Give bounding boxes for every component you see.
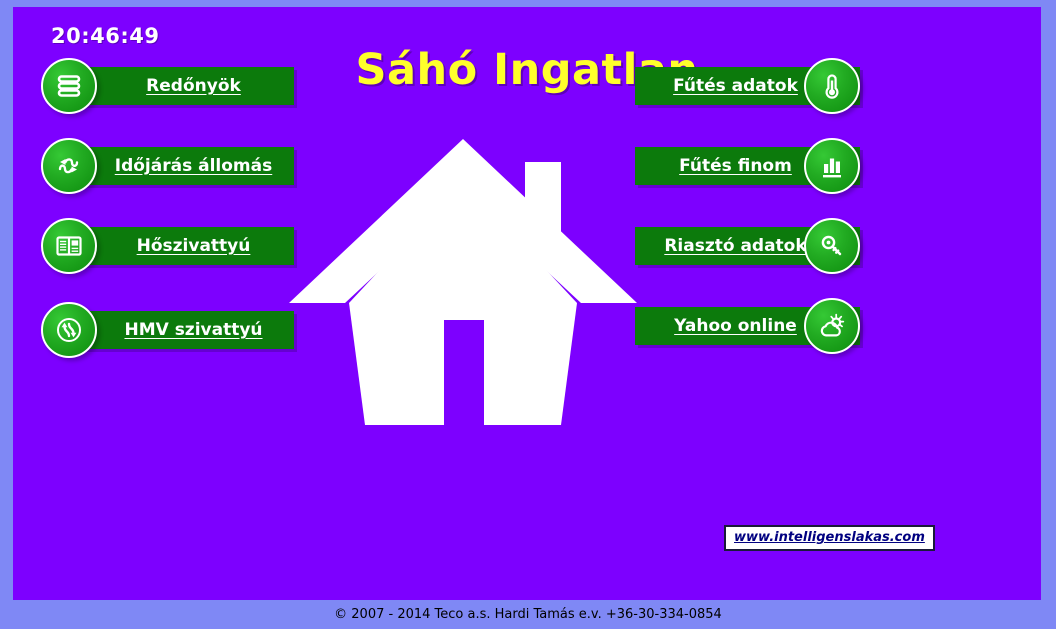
wind-arrows-icon <box>41 138 97 194</box>
sidebar-item-label: Időjárás állomás <box>69 147 294 185</box>
sidebar-item-futes-finom[interactable]: Fűtés finom <box>635 147 860 185</box>
panel-book-icon <box>41 218 97 274</box>
website-link[interactable]: www.intelligenslakas.com <box>724 525 935 551</box>
sidebar-item-label: HMV szivattyú <box>69 311 294 349</box>
main-stage: 20:46:49 Sáhó Ingatlan <box>13 7 1041 600</box>
sidebar-item-hoszivattyu[interactable]: Hőszivattyú <box>41 227 266 265</box>
sidebar-item-label: Hőszivattyú <box>69 227 294 265</box>
thermometer-icon <box>804 58 860 114</box>
sidebar-item-hmv-szivattyu[interactable]: HMV szivattyú <box>41 311 266 349</box>
footer-copyright: © 2007 - 2014 Teco a.s. Hardi Tamás e.v.… <box>0 600 1056 629</box>
blinds-icon <box>41 58 97 114</box>
sun-cloud-icon <box>804 298 860 354</box>
bar-chart-icon <box>804 138 860 194</box>
recycle-arrows-icon <box>41 302 97 358</box>
sidebar-item-riaszto-adatok[interactable]: Riasztó adatok <box>635 227 860 265</box>
application-window: 20:46:49 Sáhó Ingatlan <box>0 0 1056 629</box>
house-icon <box>289 135 637 435</box>
sidebar-item-futes-adatok[interactable]: Fűtés adatok <box>635 67 860 105</box>
sidebar-item-yahoo-online[interactable]: Yahoo online <box>635 307 860 345</box>
key-icon <box>804 218 860 274</box>
sidebar-item-redonyok[interactable]: Redőnyök <box>41 67 266 105</box>
sidebar-item-label: Redőnyök <box>69 67 294 105</box>
sidebar-item-idojaras-allomas[interactable]: Időjárás állomás <box>41 147 266 185</box>
